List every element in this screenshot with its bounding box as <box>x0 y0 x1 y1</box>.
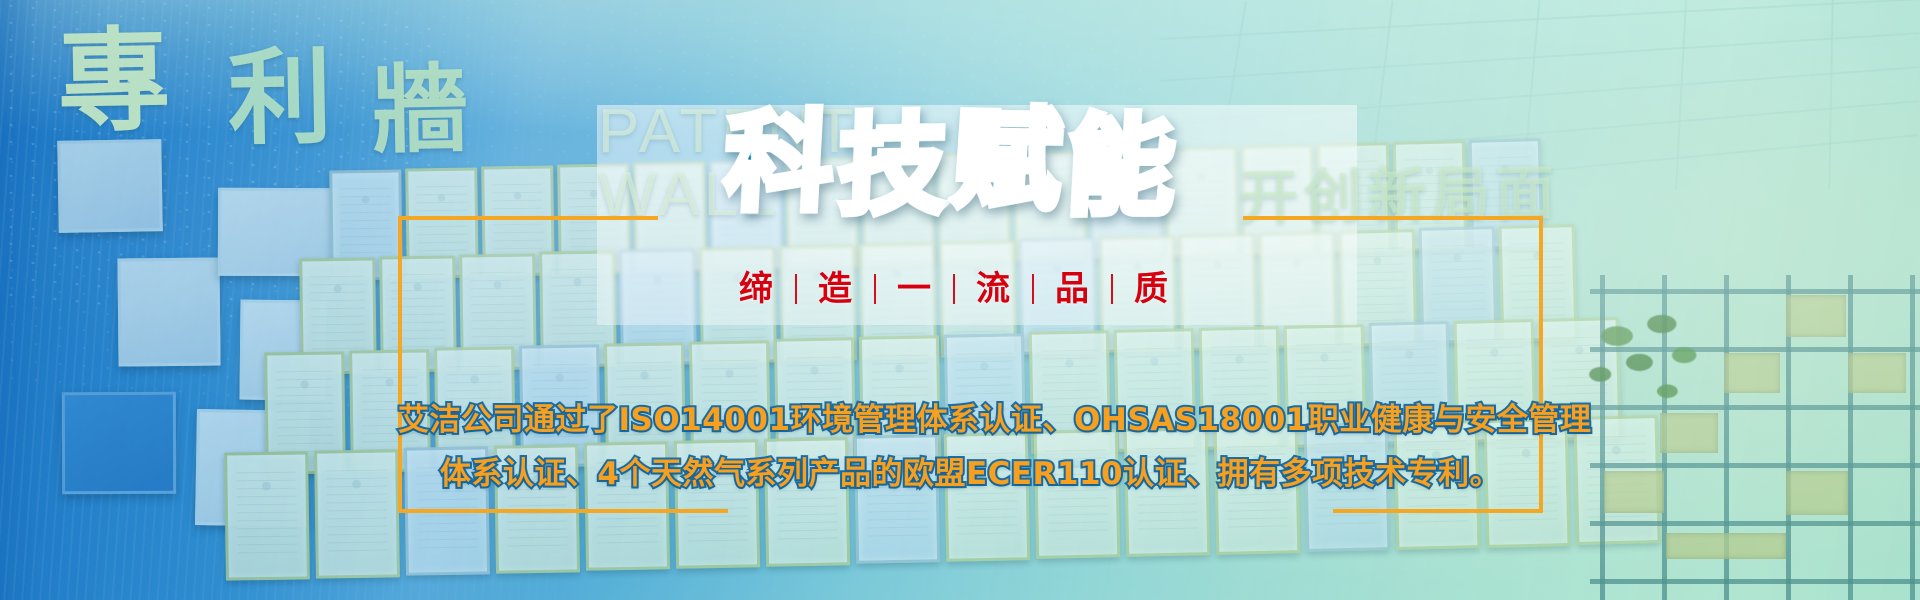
subtitle-word-3: 一 <box>876 272 953 306</box>
subtitle-tagline: 缔造一流品质 <box>718 272 1190 306</box>
subtitle-word-1: 缔 <box>718 272 795 306</box>
wall-char-patent-2: 利 <box>227 45 333 151</box>
body-copy: 艾洁公司通过了ISO14001环境管理体系认证、OHSAS18001职业健康与安… <box>398 398 1543 496</box>
headline-char-1: 科 <box>722 108 836 218</box>
wall-char-patent-3: 牆 <box>371 61 469 159</box>
subtitle-separator <box>795 274 797 304</box>
subtitle-word-6: 质 <box>1113 272 1190 306</box>
wall-char-patent-1: 專 <box>57 25 171 139</box>
subtitle-word-4: 流 <box>955 272 1032 306</box>
headline-char-3: 赋 <box>949 105 1065 217</box>
body-copy-line-1: 艾洁公司通过了ISO14001环境管理体系认证、OHSAS18001职业健康与安… <box>398 398 1543 442</box>
body-copy-line-2: 体系认证、4个天然气系列产品的欧盟ECER110认证、拥有多项技术专利。 <box>398 452 1543 496</box>
wall-text-right-slogan: 开创新局面 <box>1240 163 1561 227</box>
subtitle-word-5: 品 <box>1034 272 1111 306</box>
subtitle-separator <box>1111 274 1113 304</box>
subtitle-separator <box>1032 274 1034 304</box>
headline-char-2: 技 <box>837 110 949 222</box>
headline: 科技赋能 <box>725 108 1175 218</box>
headline-char-4: 能 <box>1064 112 1178 222</box>
subtitle-separator <box>953 274 955 304</box>
patent-wall-banner: 專 利 牆 PATENT WALL 开创新局面 科技赋能 缔造一流品质 艾洁公司… <box>0 0 1920 600</box>
subtitle-word-2: 造 <box>797 272 874 306</box>
subtitle-separator <box>874 274 876 304</box>
